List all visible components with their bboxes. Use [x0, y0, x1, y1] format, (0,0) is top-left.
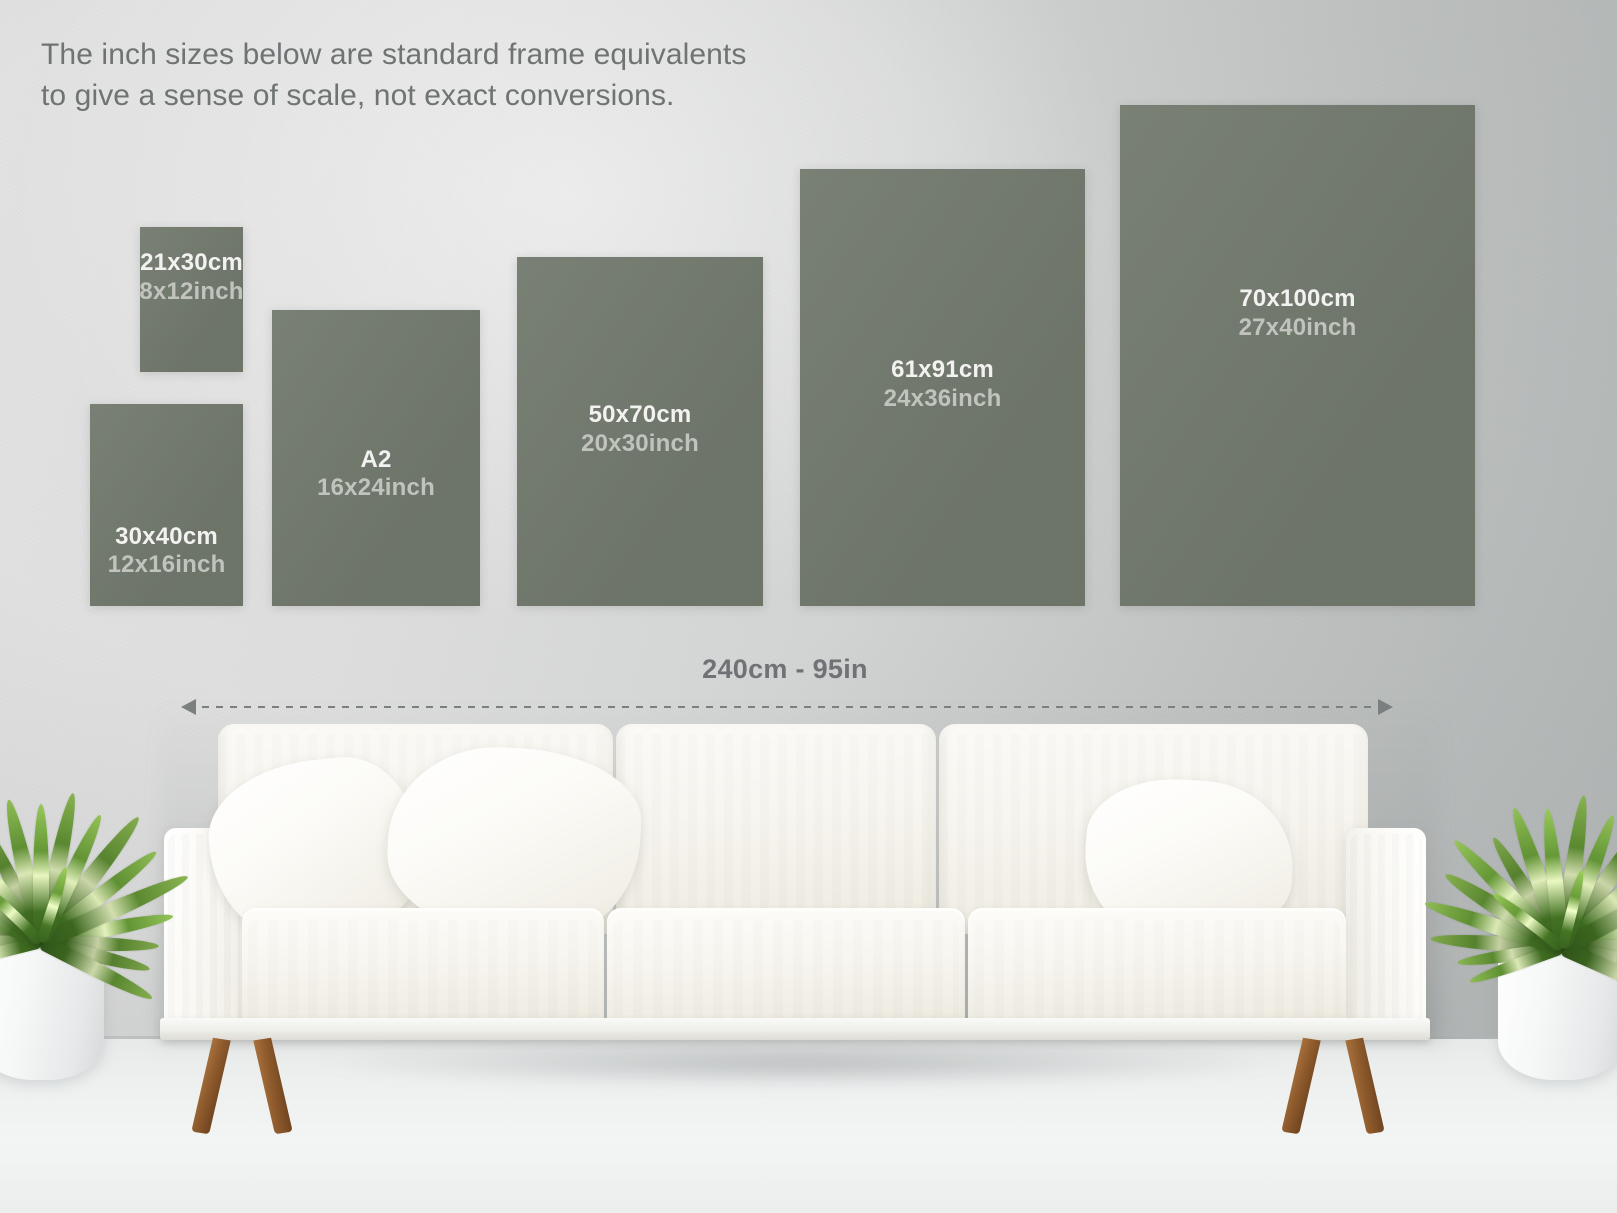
frame-label-inch: 27x40inch [1239, 314, 1357, 342]
potted-plant-left [0, 760, 168, 1080]
frame-label-inch: 24x36inch [884, 385, 1002, 413]
frame-a2[interactable]: A216x24inch [272, 310, 480, 606]
frame-label: 61x91cm24x36inch [884, 356, 1002, 413]
frame-label: 70x100cm27x40inch [1239, 285, 1357, 342]
frame-50x70[interactable]: 50x70cm20x30inch [517, 257, 763, 606]
frame-label-cm: 50x70cm [581, 401, 699, 429]
back-cushion [616, 724, 936, 934]
dimension-line [188, 705, 1384, 709]
potted-plant-right [1436, 770, 1617, 1080]
frame-label: 30x40cm12x16inch [108, 523, 226, 580]
frame-label-cm: 21x30cm [139, 249, 243, 277]
frame-21x30[interactable]: 21x30cm8x12inch [140, 227, 243, 372]
room-scene: The inch sizes below are standard frame … [0, 0, 1617, 1213]
frame-70x100[interactable]: 70x100cm27x40inch [1120, 105, 1475, 606]
wall-width-label: 240cm - 95in [0, 654, 1570, 685]
frame-61x91[interactable]: 61x91cm24x36inch [800, 169, 1085, 606]
sofa-arm-right [1346, 828, 1426, 1036]
frame-label-cm: 61x91cm [884, 356, 1002, 384]
frame-30x40[interactable]: 30x40cm12x16inch [90, 404, 243, 606]
frame-label: 50x70cm20x30inch [581, 401, 699, 458]
sofa [160, 718, 1430, 1118]
frame-label-cm: A2 [317, 446, 435, 474]
frame-label-inch: 20x30inch [581, 430, 699, 458]
arrow-right-icon [1378, 699, 1393, 715]
frame-label: A216x24inch [317, 446, 435, 503]
page-title: The inch sizes below are standard frame … [41, 34, 1001, 117]
frame-label-cm: 70x100cm [1239, 285, 1357, 313]
frame-label-inch: 12x16inch [108, 551, 226, 579]
frame-label-inch: 16x24inch [317, 474, 435, 502]
sofa-frame-base [160, 1018, 1430, 1040]
frame-label-cm: 30x40cm [108, 523, 226, 551]
frame-label-inch: 8x12inch [139, 278, 243, 306]
frame-label: 21x30cm8x12inch [139, 249, 243, 306]
